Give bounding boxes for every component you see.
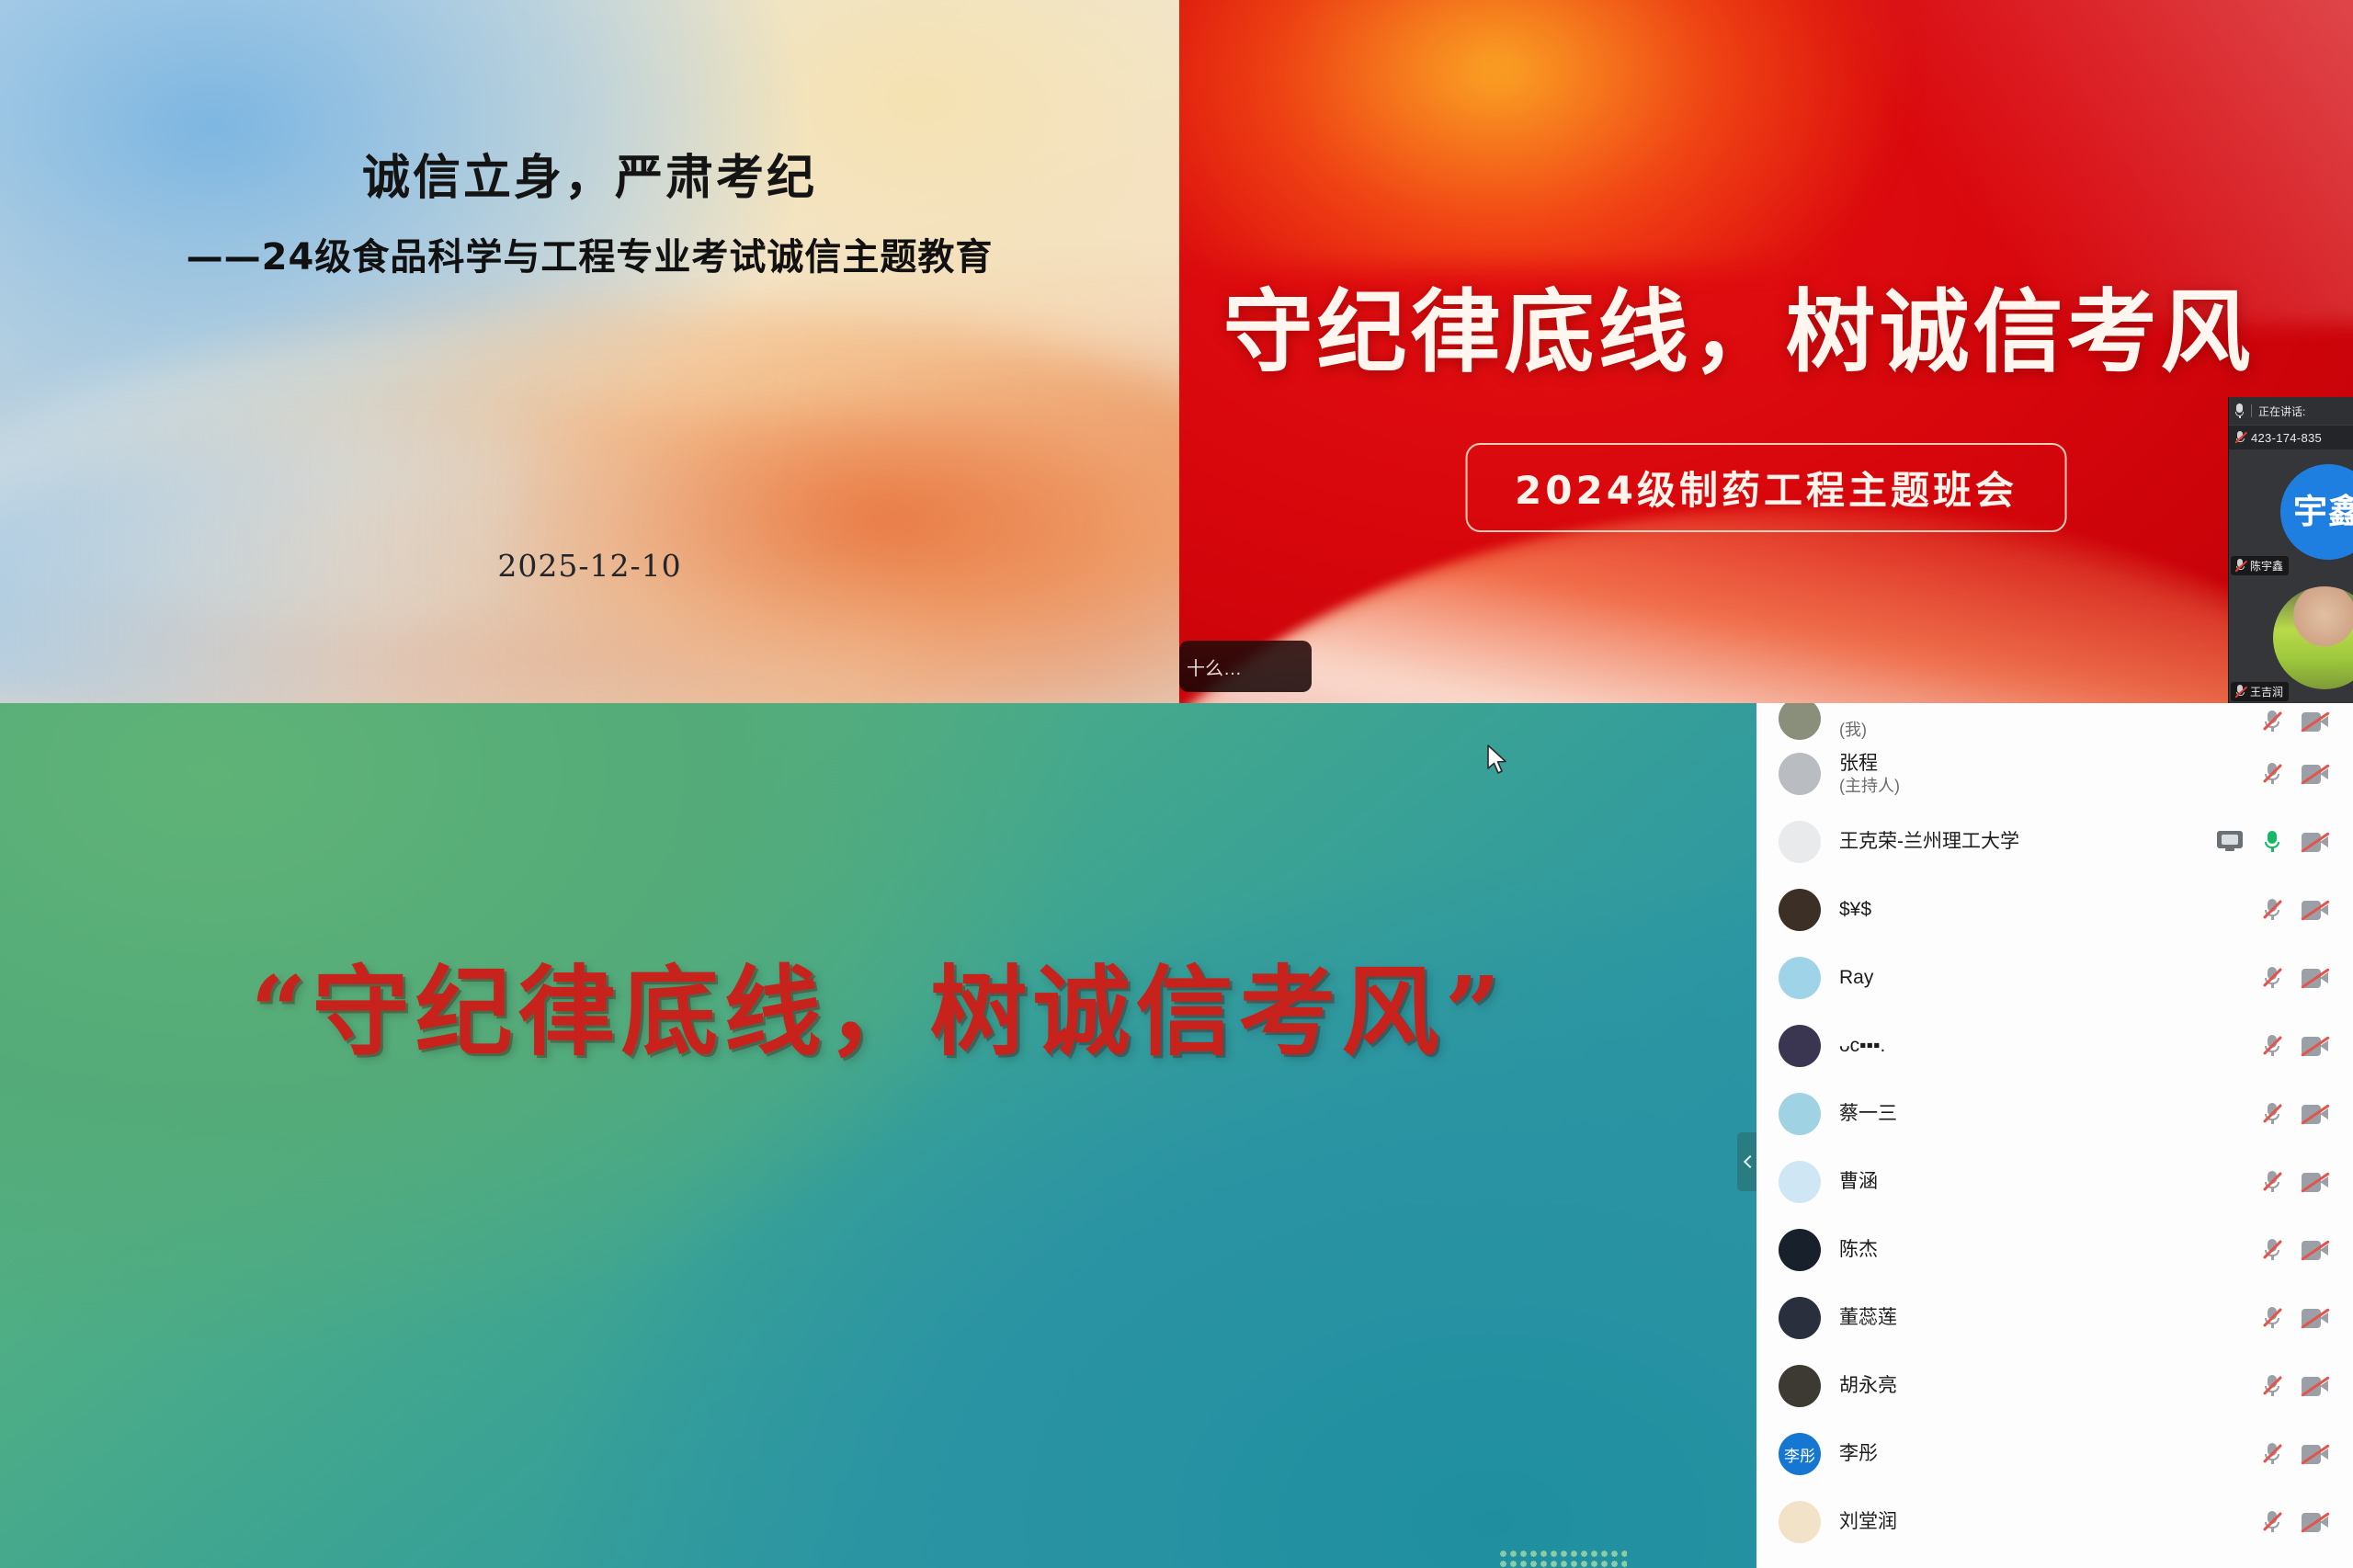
slide-pharma-engineering-class-meeting[interactable]: 守纪律底线，树诚信考风 2024级制药工程主题班会 十么… [1179, 0, 2353, 703]
participant-status-icons [2263, 1306, 2329, 1330]
participant-row[interactable]: (我) [1756, 703, 2353, 740]
avatar: 宇鑫 [2280, 464, 2353, 560]
participant-status-icons [2263, 966, 2329, 990]
slide-subtitle-box: 2024级制药工程主题班会 [1465, 443, 2067, 532]
participant-list[interactable]: (我)张程(主持人)王克荣-兰州理工大学$¥$Rayᴗᴄ▪▪▪.蔡一三曹涵陈杰董… [1756, 703, 2353, 1568]
camera-off-icon[interactable] [2302, 712, 2329, 732]
participant-status-icons [2263, 1034, 2329, 1058]
participant-name-block: 刘堂润 [1839, 1510, 1897, 1534]
avatar [1779, 1161, 1821, 1203]
screen-root: 诚信立身，严肃考纪 ——24级食品科学与工程专业考试诚信主题教育 2025-12… [0, 0, 2353, 1568]
participant-name-block: 李彤 [1839, 1442, 1878, 1466]
slide-food-science-integrity[interactable]: 诚信立身，严肃考纪 ——24级食品科学与工程专业考试诚信主题教育 2025-12… [0, 0, 1179, 703]
participant-name: ᴗᴄ▪▪▪. [1839, 1034, 1885, 1058]
divider [2251, 404, 2252, 417]
avatar [1779, 1365, 1821, 1407]
avatar [1779, 889, 1821, 931]
mic-muted-icon[interactable] [2263, 1510, 2281, 1534]
participant-status-icons [2263, 1170, 2329, 1194]
camera-off-icon[interactable] [2302, 1377, 2329, 1396]
avatar [1779, 1229, 1821, 1271]
participant-row[interactable]: 曹涵 [1756, 1148, 2353, 1216]
participant-row[interactable]: 刘堂润 [1756, 1488, 2353, 1556]
participant-name-block: Ray [1839, 966, 1873, 990]
video-tile-chen-yuxin[interactable]: 宇鑫 陈宇鑫 [2229, 449, 2353, 577]
participant-name: 刘堂润 [1839, 1510, 1897, 1534]
participant-name-block: 王克荣-兰州理工大学 [1839, 830, 2019, 854]
participant-name: 陈宇鑫 [2250, 558, 2283, 574]
participant-name: 王克荣-兰州理工大学 [1839, 830, 2019, 854]
mic-muted-icon [2234, 685, 2246, 699]
camera-off-icon[interactable] [2302, 1037, 2329, 1056]
microphone-icon [2234, 403, 2245, 418]
mic-muted-icon[interactable] [2263, 1442, 2281, 1466]
mic-on-icon[interactable] [2263, 830, 2281, 854]
participant-name: 董蕊莲 [1839, 1306, 1897, 1330]
screen-share-icon[interactable] [2217, 831, 2243, 853]
participant-status-icons [2217, 830, 2329, 854]
video-tile-wang-jirun[interactable]: 王吉润 [2229, 577, 2353, 703]
participant-status-icons [2263, 1442, 2329, 1466]
slide-quote: “守纪律底线，树诚信考风” [0, 933, 1756, 1074]
video-thumbnail-strip[interactable]: 正在讲话: 423-174-835 宇鑫 陈宇鑫 王吉润 [2228, 397, 2353, 703]
participant-row[interactable]: 董蕊莲 [1756, 1284, 2353, 1352]
participant-name: $¥$ [1839, 898, 1871, 922]
tooltip-fragment: 十么… [1179, 641, 1312, 692]
participant-row[interactable]: 胡永亮 [1756, 1352, 2353, 1420]
participant-name: 胡永亮 [1839, 1374, 1897, 1398]
participant-status-icons [2263, 1238, 2329, 1262]
speaker-id: 423-174-835 [2251, 431, 2322, 445]
mouse-cursor [1486, 744, 1510, 776]
camera-off-icon[interactable] [2302, 1241, 2329, 1260]
decorative-dot-column-1 [1498, 1549, 1627, 1568]
avatar [1779, 703, 1821, 740]
mic-muted-icon[interactable] [2263, 898, 2281, 922]
participant-name-block: 曹涵 [1839, 1170, 1878, 1194]
participant-name-block: 蔡一三 [1839, 1102, 1897, 1126]
avatar [1779, 753, 1821, 795]
participant-name-block: $¥$ [1839, 898, 1871, 922]
slide-bioengineering-class-meeting[interactable]: “守纪律底线，树诚信考风” 2024级生物工程主题班会 [0, 703, 1756, 1568]
mic-muted-icon[interactable] [2263, 1102, 2281, 1126]
camera-off-icon[interactable] [2302, 1173, 2329, 1192]
mic-muted-icon[interactable] [2263, 1374, 2281, 1398]
participant-status-icons [2263, 762, 2329, 786]
camera-off-icon[interactable] [2302, 1105, 2329, 1124]
mic-muted-icon[interactable] [2263, 1306, 2281, 1330]
slide-date: 2025-12-10 [0, 548, 1179, 584]
slide-title: 守纪律底线，树诚信考风 [1179, 259, 2353, 390]
participant-name-block: 胡永亮 [1839, 1374, 1897, 1398]
participant-name: Ray [1839, 966, 1873, 990]
participant-name: 曹涵 [1839, 1170, 1878, 1194]
participant-name: 陈杰 [1839, 1238, 1878, 1262]
camera-off-icon[interactable] [2302, 901, 2329, 920]
participant-row[interactable]: 李彤李彤 [1756, 1420, 2353, 1488]
camera-off-icon[interactable] [2302, 1513, 2329, 1532]
slide-subtitle: 2024级制药工程主题班会 [1515, 460, 2018, 516]
avatar [1779, 1025, 1821, 1067]
chevron-left-icon [1743, 1155, 1756, 1168]
avatar [1779, 1501, 1821, 1543]
mic-muted-icon[interactable] [2263, 1170, 2281, 1194]
participant-row[interactable]: 张程(主持人) [1756, 740, 2353, 808]
participant-name-block: (我) [1839, 720, 1867, 741]
participant-status-icons [2263, 1510, 2329, 1534]
active-speaker-header: 正在讲话: [2229, 397, 2353, 426]
mic-muted-icon[interactable] [2263, 762, 2281, 786]
participant-row[interactable]: 蔡一三 [1756, 1080, 2353, 1148]
mic-muted-icon [2234, 431, 2246, 445]
participant-name: 王吉润 [2250, 684, 2283, 699]
participant-name: 蔡一三 [1839, 1102, 1897, 1126]
participant-row[interactable]: 陈杰 [1756, 1216, 2353, 1284]
participant-status-icons [2263, 1102, 2329, 1126]
mic-muted-icon[interactable] [2263, 966, 2281, 990]
mic-muted-icon [2234, 559, 2246, 573]
avatar [1779, 957, 1821, 999]
participant-name-block: ᴗᴄ▪▪▪. [1839, 1034, 1885, 1058]
camera-off-icon[interactable] [2302, 1445, 2329, 1464]
tile-name-badge: 陈宇鑫 [2231, 556, 2289, 575]
participant-name-block: 董蕊莲 [1839, 1306, 1897, 1330]
camera-off-icon[interactable] [2302, 969, 2329, 988]
participant-row[interactable] [1756, 1556, 2353, 1568]
participant-row[interactable]: Ray [1756, 944, 2353, 1012]
active-speaker-label: 正在讲话: [2258, 403, 2305, 419]
participant-name: 张程 [1839, 752, 1900, 776]
participant-name: 李彤 [1839, 1442, 1878, 1466]
participant-status-icons [2263, 898, 2329, 922]
avatar: 李彤 [1779, 1433, 1821, 1475]
speaker-id-row: 423-174-835 [2229, 426, 2353, 449]
mic-muted-icon[interactable] [2263, 1238, 2281, 1262]
avatar [1779, 1297, 1821, 1339]
participant-role: (主持人) [1839, 776, 1900, 797]
participant-status-icons [2263, 1374, 2329, 1398]
decorative-band-bottom-2 [1179, 520, 2353, 703]
slide-title: 诚信立身，严肃考纪 [0, 139, 1179, 208]
participant-name-block: 张程(主持人) [1839, 752, 1900, 797]
tile-name-badge: 王吉润 [2231, 682, 2289, 701]
slide-subtitle: ——24级食品科学与工程专业考试诚信主题教育 [0, 227, 1179, 280]
participant-role: (我) [1839, 720, 1867, 741]
camera-off-icon[interactable] [2302, 833, 2329, 852]
camera-off-icon[interactable] [2302, 1309, 2329, 1328]
avatar [1779, 1093, 1821, 1135]
video-feed [2273, 586, 2353, 689]
participant-row[interactable]: 王克荣-兰州理工大学 [1756, 808, 2353, 876]
avatar [1779, 821, 1821, 863]
participant-name-block: 陈杰 [1839, 1238, 1878, 1262]
mic-muted-icon[interactable] [2263, 710, 2281, 733]
participant-row[interactable]: ᴗᴄ▪▪▪. [1756, 1012, 2353, 1080]
participant-status-icons [2263, 710, 2329, 733]
participant-row[interactable]: $¥$ [1756, 876, 2353, 944]
camera-off-icon[interactable] [2302, 765, 2329, 784]
mic-muted-icon[interactable] [2263, 1034, 2281, 1058]
